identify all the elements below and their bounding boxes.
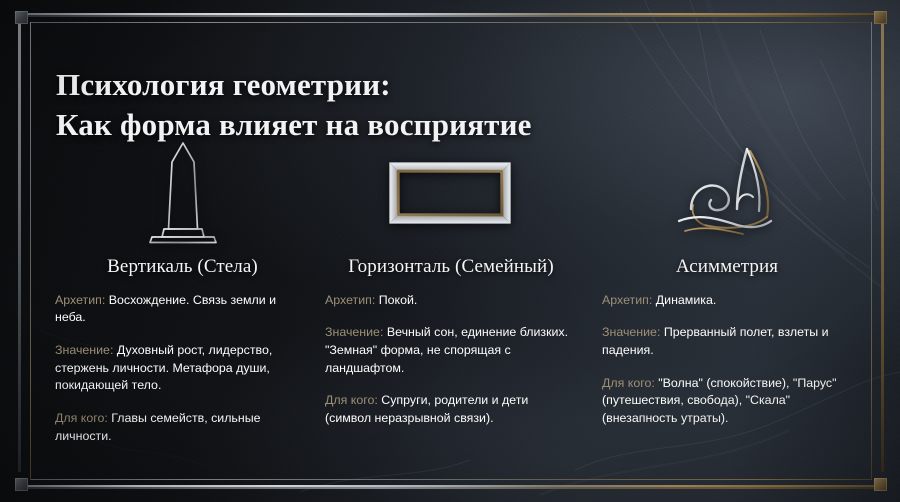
slide-canvas: Психология геометрии: Как форма влияет н… — [0, 0, 900, 502]
entry-label: Значение: — [602, 325, 660, 339]
entry-label: Архетип: — [602, 293, 652, 307]
corner-ornament-bottom-right — [874, 478, 887, 491]
entry-value: Динамика. — [656, 293, 717, 307]
entry-value: Покой. — [379, 293, 418, 307]
column-heading: Вертикаль (Стела) — [55, 256, 310, 278]
column-asymmetry: Асимметрия Архетип: Динамика. Значение: … — [602, 256, 852, 428]
icon-cell-horizontal — [325, 132, 575, 254]
column-heading: Асимметрия — [602, 256, 852, 278]
frame-bottom-bar — [18, 485, 884, 489]
corner-ornament-top-right — [874, 11, 887, 24]
entry-meaning: Значение: Вечный сон, единение близких. … — [325, 324, 577, 377]
wave-sail-icon — [671, 147, 779, 239]
entry-label: Архетип: — [55, 293, 105, 307]
icon-cell-vertical — [55, 132, 310, 254]
corner-ornament-top-left — [15, 11, 28, 24]
entry-archetype: Архетип: Динамика. — [602, 292, 852, 310]
entry-archetype: Архетип: Покой. — [325, 292, 577, 310]
entry-label: Для кого: — [325, 393, 378, 407]
icon-row — [0, 132, 900, 254]
frame-top-bar — [18, 13, 884, 17]
entry-label: Для кого: — [602, 376, 655, 390]
column-horizontal: Горизонталь (Семейный) Архетип: Покой. З… — [325, 256, 577, 428]
entry-label: Значение: — [325, 325, 383, 339]
column-heading: Горизонталь (Семейный) — [325, 256, 577, 278]
frame-inner-top-line — [30, 22, 872, 23]
corner-ornament-bottom-left — [15, 478, 28, 491]
obelisk-stela-icon — [138, 137, 228, 249]
entry-label: Архетип: — [325, 293, 375, 307]
entry-audience: Для кого: "Волна" (спокойствие), "Парус"… — [602, 375, 852, 428]
entry-archetype: Архетип: Восхождение. Связь земли и неба… — [55, 292, 310, 327]
entry-meaning: Значение: Прерванный полет, взлеты и пад… — [602, 324, 852, 359]
frame-inner-bottom-line — [30, 479, 872, 480]
column-vertical: Вертикаль (Стела) Архетип: Восхождение. … — [55, 256, 310, 445]
entry-label: Значение: — [55, 343, 113, 357]
horizontal-frame-icon — [386, 158, 514, 228]
entry-meaning: Значение: Духовный рост, лидерство, стер… — [55, 342, 310, 395]
columns-row: Вертикаль (Стела) Архетип: Восхождение. … — [0, 256, 900, 471]
icon-cell-asymmetry — [600, 132, 850, 254]
entry-audience: Для кого: Супруги, родители и дети (симв… — [325, 392, 577, 427]
page-title-line-1: Психология геометрии: — [56, 67, 391, 102]
entry-audience: Для кого: Главы семейств, сильные личнос… — [55, 410, 310, 445]
entry-label: Для кого: — [55, 411, 108, 425]
